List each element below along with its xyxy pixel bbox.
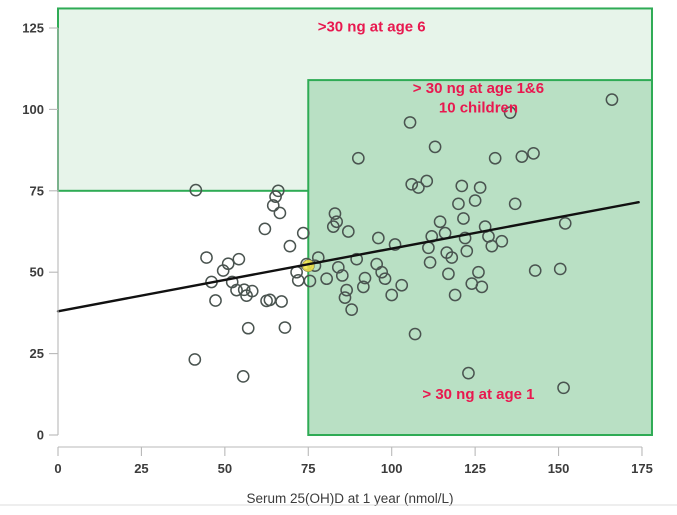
data-point — [274, 207, 285, 218]
data-point — [238, 371, 249, 382]
annotation-10-children: 10 children — [439, 100, 518, 117]
y-tick-label: 50 — [30, 265, 44, 280]
scatter-chart-figure: 0255075100125 0255075100125150175 >30 ng… — [0, 0, 677, 515]
y-tick-label: 125 — [22, 21, 44, 36]
x-tick-label: 25 — [134, 461, 148, 476]
data-point — [279, 322, 290, 333]
x-axis-title: Serum 25(OH)D at 1 year (nmol/L) — [246, 491, 453, 506]
data-point — [293, 275, 304, 286]
annotation-age1and6: > 30 ng at age 1&6 — [413, 80, 544, 97]
region-inner-age1and6 — [308, 80, 652, 435]
y-axis-ticks: 0255075100125 — [22, 21, 58, 443]
data-point — [284, 241, 295, 252]
x-tick-label: 75 — [301, 461, 315, 476]
plot-canvas: 0255075100125 0255075100125150175 >30 ng… — [0, 0, 677, 515]
annotation-age6: >30 ng at age 6 — [318, 18, 426, 35]
data-point — [233, 254, 244, 265]
y-tick-label: 0 — [37, 428, 44, 443]
x-axis-ticks: 0255075100125150175 — [54, 447, 652, 476]
x-tick-label: 100 — [381, 461, 403, 476]
x-tick-label: 50 — [218, 461, 232, 476]
x-tick-label: 175 — [631, 461, 653, 476]
y-tick-label: 25 — [30, 346, 44, 361]
x-tick-label: 0 — [54, 461, 61, 476]
data-point — [189, 354, 200, 365]
y-tick-label: 75 — [30, 183, 44, 198]
annotation-age1: > 30 ng at age 1 — [422, 386, 534, 403]
data-point — [201, 252, 212, 263]
data-point — [259, 223, 270, 234]
data-point — [298, 228, 309, 239]
data-point — [243, 323, 254, 334]
shaded-regions — [58, 8, 652, 435]
y-tick-label: 100 — [22, 102, 44, 117]
data-point — [276, 296, 287, 307]
data-point — [210, 295, 221, 306]
x-tick-label: 125 — [464, 461, 486, 476]
x-tick-label: 150 — [548, 461, 570, 476]
